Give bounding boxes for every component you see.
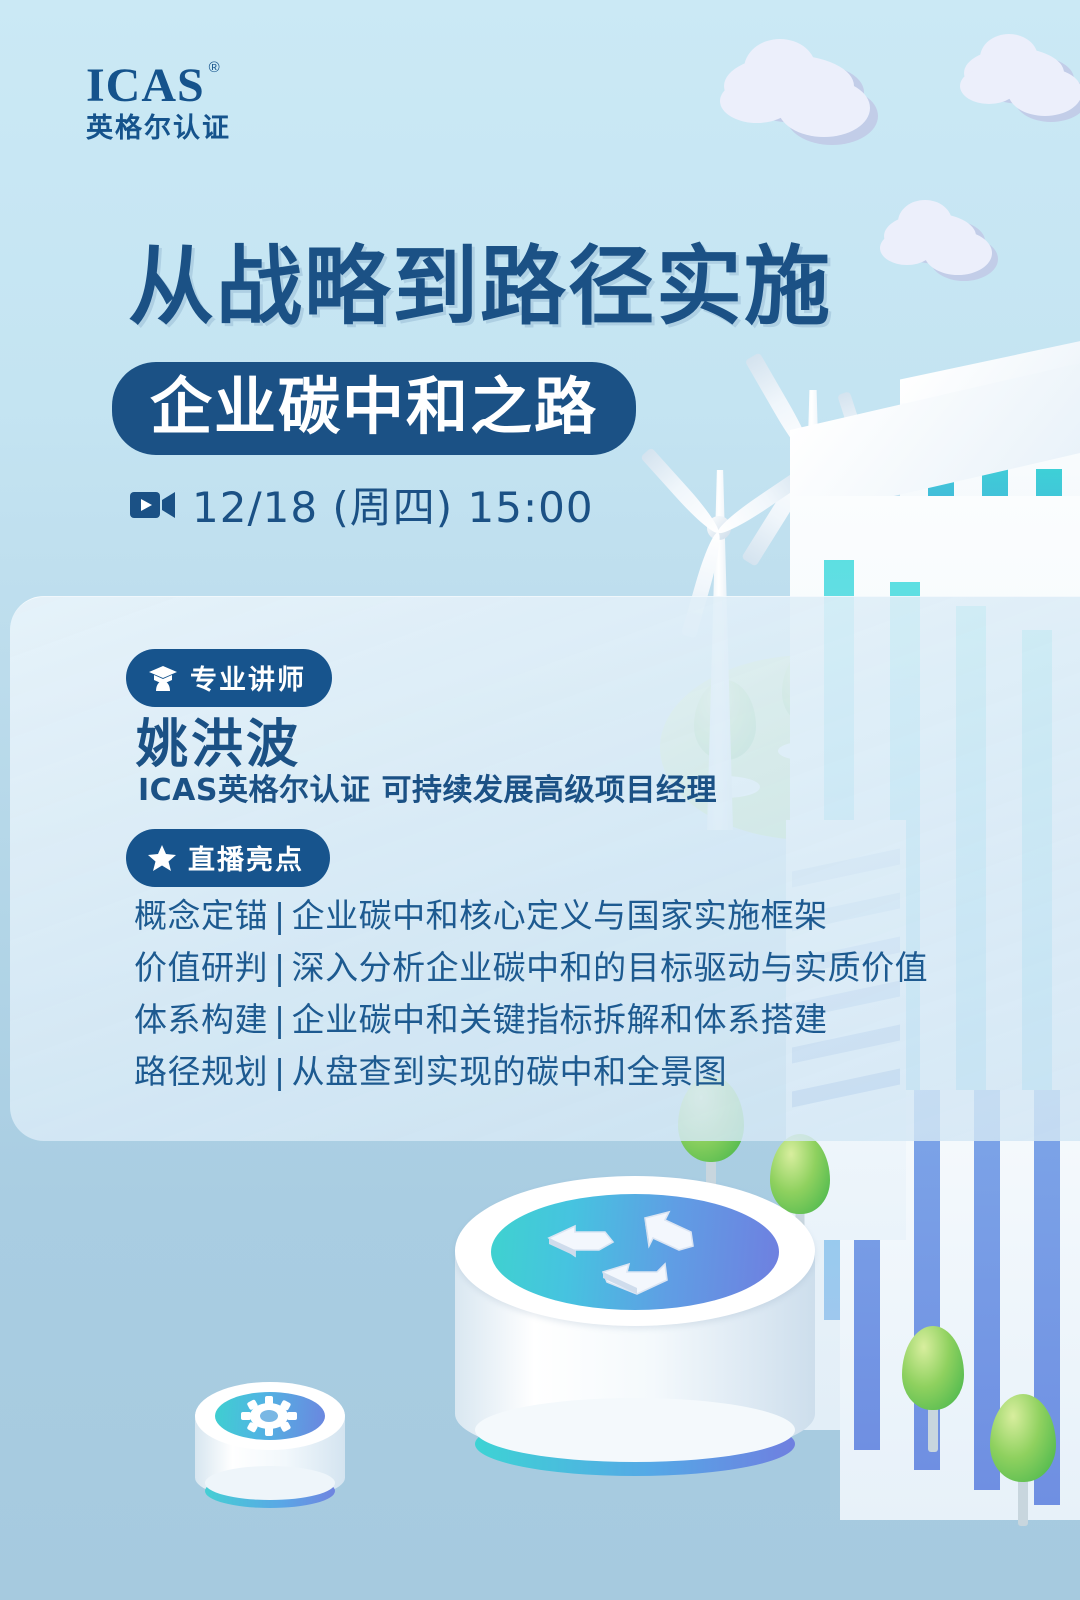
highlight-tag: 概念定锚 (134, 896, 268, 935)
highlights-badge: 直播亮点 (126, 829, 330, 887)
poster-canvas: ICAS® 英格尔认证 从战略到路径实施 企业碳中和之路 12/18 (周四) … (0, 0, 1080, 1600)
subtitle-pill: 企业碳中和之路 (112, 362, 636, 455)
list-item: 概念定锚|企业碳中和核心定义与国家实施框架 (134, 890, 928, 942)
recycle-cylinder-icon (455, 1176, 815, 1476)
highlight-desc: 企业碳中和核心定义与国家实施框架 (292, 896, 828, 935)
highlights-list: 概念定锚|企业碳中和核心定义与国家实施框架 价值研判|深入分析企业碳中和的目标驱… (134, 890, 928, 1099)
tree-icon (900, 1318, 966, 1458)
logo-chinese-name: 英格尔认证 (86, 115, 231, 142)
graduation-cap-icon (148, 664, 178, 692)
speaker-badge: 专业讲师 (126, 649, 332, 707)
video-camera-icon (130, 488, 176, 522)
speaker-badge-label: 专业讲师 (190, 658, 306, 697)
highlights-badge-label: 直播亮点 (188, 838, 304, 877)
highlight-tag: 体系构建 (134, 1000, 268, 1039)
logo-wordmark: ICAS (86, 59, 205, 112)
tree-icon (988, 1382, 1058, 1532)
broadcast-datetime: 12/18 (周四) 15:00 (130, 474, 594, 535)
datetime-text: 12/18 (周四) 15:00 (192, 474, 594, 535)
highlight-separator: | (268, 1052, 292, 1091)
recycle-arrows-icon (541, 1202, 731, 1302)
office-building (840, 1090, 1080, 1520)
highlight-tag: 路径规划 (134, 1052, 268, 1091)
gear-cylinder-icon (195, 1382, 345, 1532)
cloud-icon (718, 45, 878, 155)
registered-mark: ® (209, 60, 221, 75)
highlight-separator: | (268, 948, 292, 987)
highlight-separator: | (268, 1000, 292, 1039)
highlight-desc: 从盘查到实现的碳中和全景图 (292, 1052, 728, 1091)
speaker-role: ICAS英格尔认证 可持续发展高级项目经理 (138, 765, 717, 809)
list-item: 路径规划|从盘查到实现的碳中和全景图 (134, 1046, 928, 1098)
list-item: 价值研判|深入分析企业碳中和的目标驱动与实质价值 (134, 942, 928, 994)
cloud-icon (960, 40, 1080, 130)
page-subtitle: 企业碳中和之路 (150, 374, 598, 439)
highlight-desc: 企业碳中和关键指标拆解和体系搭建 (292, 1000, 828, 1039)
list-item: 体系构建|企业碳中和关键指标拆解和体系搭建 (134, 994, 928, 1046)
tree-icon (768, 1128, 832, 1258)
icas-logo: ICAS® 英格尔认证 (86, 62, 231, 142)
highlight-tag: 价值研判 (134, 948, 268, 987)
highlight-desc: 深入分析企业碳中和的目标驱动与实质价值 (292, 948, 929, 987)
cloud-icon (880, 205, 1000, 290)
star-icon (148, 844, 176, 871)
gear-icon (237, 1394, 301, 1438)
page-title: 从战略到路径实施 (128, 244, 832, 332)
highlight-separator: | (268, 896, 292, 935)
